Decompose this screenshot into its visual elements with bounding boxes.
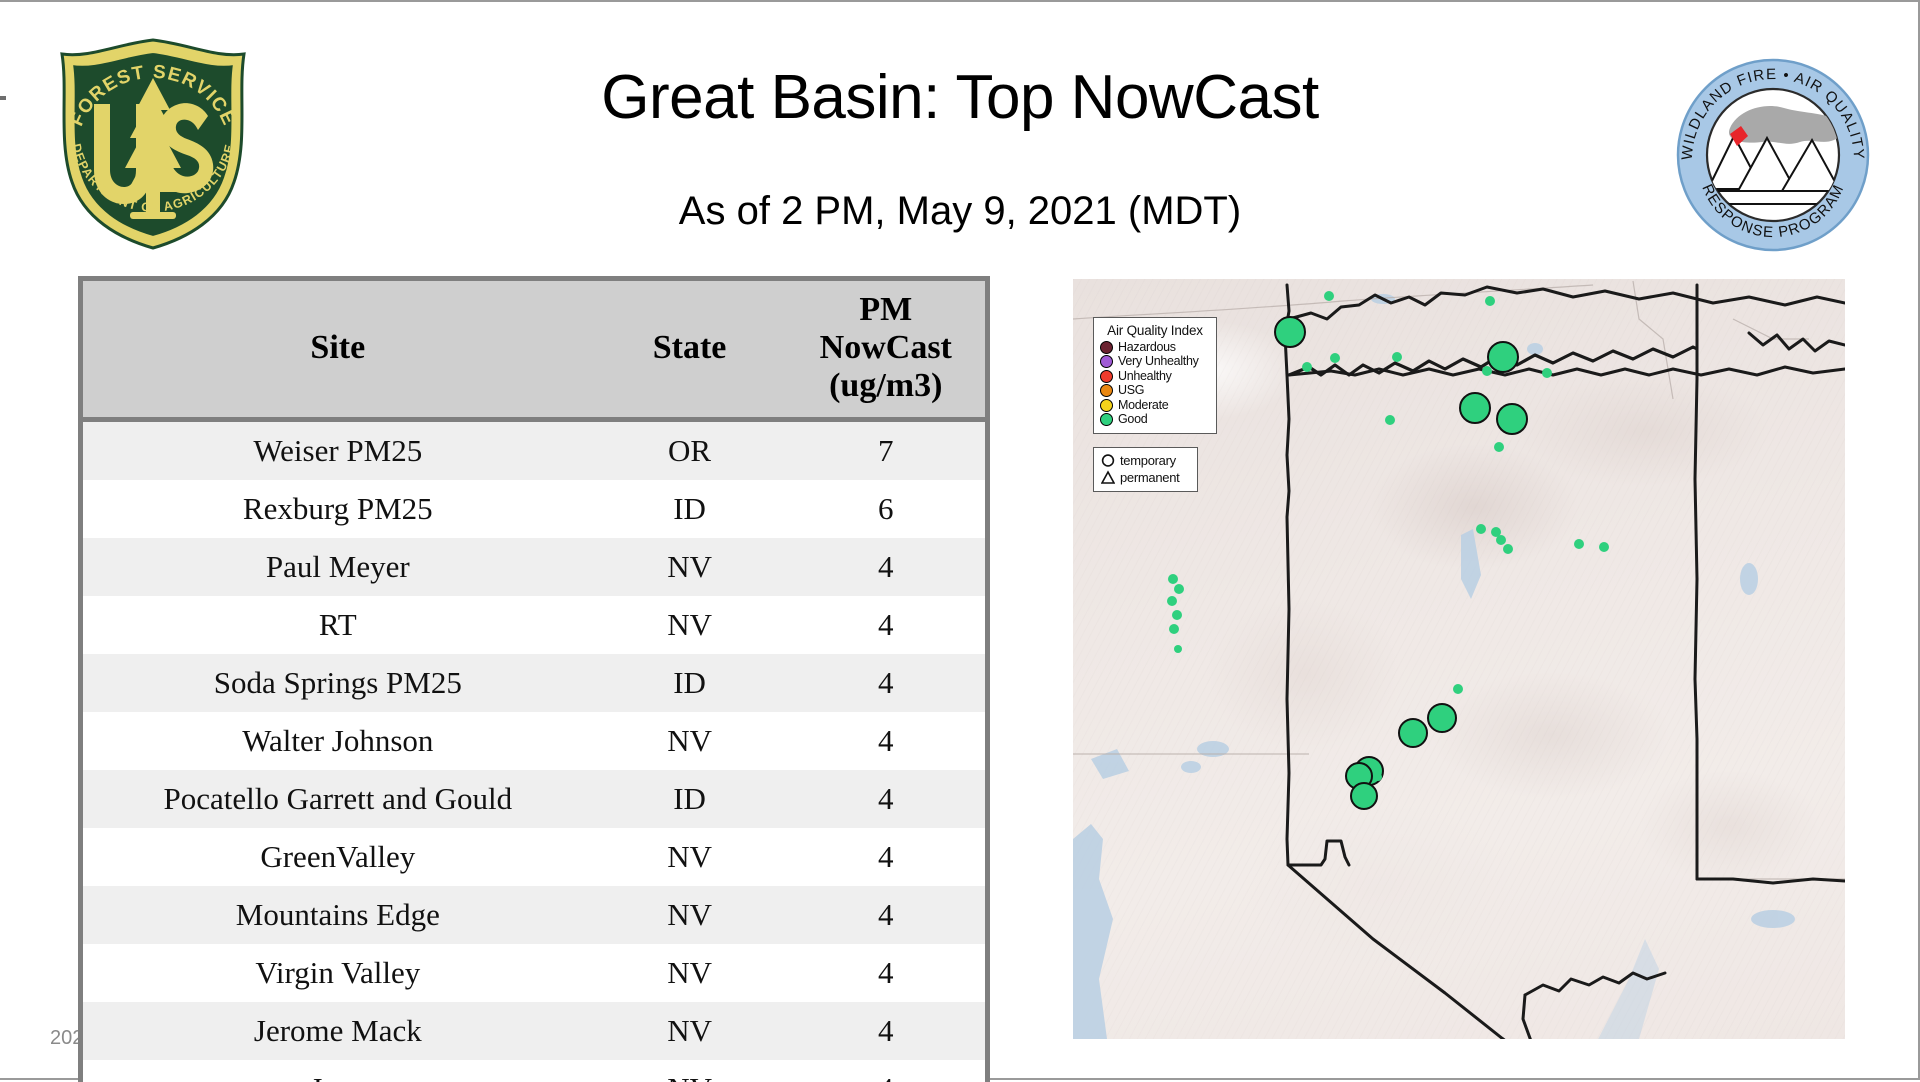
map-monitor-point[interactable] bbox=[1485, 296, 1495, 306]
map-monitor-point[interactable] bbox=[1169, 624, 1179, 634]
table-row: RTNV4 bbox=[83, 596, 985, 654]
pm-nowcast-line3: (ug/m3) bbox=[829, 367, 942, 404]
legend-item: Hazardous bbox=[1100, 340, 1210, 355]
value-cell: 4 bbox=[787, 596, 985, 654]
state-cell: ID bbox=[593, 480, 787, 538]
map-monitor-point[interactable] bbox=[1350, 782, 1378, 810]
legend-item: USG bbox=[1100, 384, 1210, 399]
map-legend-symbol-type: temporary permanent bbox=[1093, 447, 1198, 492]
legend-symbol-permanent-label: permanent bbox=[1120, 471, 1179, 485]
legend-color-swatch-icon bbox=[1100, 399, 1113, 412]
legend-item-label: USG bbox=[1118, 384, 1144, 397]
legend-item: Very Unhealthy bbox=[1100, 355, 1210, 370]
value-cell: 4 bbox=[787, 886, 985, 944]
table-row: Weiser PM25OR7 bbox=[83, 420, 985, 481]
legend-color-swatch-icon bbox=[1100, 384, 1113, 397]
map-monitor-point[interactable] bbox=[1487, 341, 1519, 373]
legend-color-swatch-icon bbox=[1100, 370, 1113, 383]
value-cell: 4 bbox=[787, 1002, 985, 1060]
pm-nowcast-line1: PM bbox=[859, 291, 912, 328]
value-cell: 7 bbox=[787, 420, 985, 481]
site-cell: Soda Springs PM25 bbox=[83, 654, 593, 712]
nowcast-table-container: Site State PM NowCast (ug/m3) Weiser PM2… bbox=[78, 276, 990, 1082]
page-title: Great Basin: Top NowCast bbox=[0, 62, 1920, 134]
legend-symbol-permanent: permanent bbox=[1101, 469, 1191, 486]
value-cell: 4 bbox=[787, 1060, 985, 1082]
map-monitor-point[interactable] bbox=[1427, 703, 1457, 733]
table-row: Rexburg PM25ID6 bbox=[83, 480, 985, 538]
map-monitor-point[interactable] bbox=[1503, 544, 1513, 554]
triangle-icon bbox=[1101, 470, 1115, 485]
map-monitor-point[interactable] bbox=[1330, 353, 1340, 363]
map-legend-air-quality-index: Air Quality Index HazardousVery Unhealth… bbox=[1093, 317, 1217, 434]
table-row: Jerome MackNV4 bbox=[83, 1002, 985, 1060]
legend-color-swatch-icon bbox=[1100, 413, 1113, 426]
site-cell: Pocatello Garrett and Gould bbox=[83, 770, 593, 828]
state-cell: ID bbox=[593, 770, 787, 828]
legend-symbol-temporary-label: temporary bbox=[1120, 454, 1176, 468]
state-cell: NV bbox=[593, 712, 787, 770]
table-row: Pocatello Garrett and GouldID4 bbox=[83, 770, 985, 828]
table-body: Weiser PM25OR7Rexburg PM25ID6Paul MeyerN… bbox=[83, 420, 985, 1082]
legend-items: HazardousVery UnhealthyUnhealthyUSGModer… bbox=[1100, 340, 1210, 427]
table-row: GreenValleyNV4 bbox=[83, 828, 985, 886]
legend-item: Moderate bbox=[1100, 398, 1210, 413]
table-row: JeanNV4 bbox=[83, 1060, 985, 1082]
site-cell: GreenValley bbox=[83, 828, 593, 886]
legend-item-label: Hazardous bbox=[1118, 341, 1176, 354]
site-cell: Walter Johnson bbox=[83, 712, 593, 770]
map-monitor-point[interactable] bbox=[1174, 584, 1184, 594]
column-header-site: Site bbox=[83, 281, 593, 420]
map-monitor-point[interactable] bbox=[1459, 392, 1491, 424]
map-monitor-point[interactable] bbox=[1385, 415, 1395, 425]
site-cell: Jerome Mack bbox=[83, 1002, 593, 1060]
column-header-state: State bbox=[593, 281, 787, 420]
map-monitor-point[interactable] bbox=[1274, 316, 1306, 348]
circle-icon bbox=[1101, 453, 1115, 468]
slide-canvas: 202 FOREST SERVICE DEP bbox=[0, 0, 1920, 1080]
table-header: Site State PM NowCast (ug/m3) bbox=[83, 281, 985, 420]
site-cell: Weiser PM25 bbox=[83, 420, 593, 481]
map-monitor-point[interactable] bbox=[1392, 352, 1402, 362]
site-cell: Mountains Edge bbox=[83, 886, 593, 944]
map-monitor-point[interactable] bbox=[1398, 718, 1428, 748]
map-monitor-point[interactable] bbox=[1174, 645, 1182, 653]
legend-item-label: Very Unhealthy bbox=[1118, 355, 1199, 368]
state-cell: NV bbox=[593, 1060, 787, 1082]
state-cell: NV bbox=[593, 886, 787, 944]
value-cell: 4 bbox=[787, 712, 985, 770]
legend-item: Good bbox=[1100, 413, 1210, 428]
table-row: Soda Springs PM25ID4 bbox=[83, 654, 985, 712]
state-cell: NV bbox=[593, 1002, 787, 1060]
table-row: Virgin ValleyNV4 bbox=[83, 944, 985, 1002]
state-cell: NV bbox=[593, 596, 787, 654]
map-monitor-point[interactable] bbox=[1574, 539, 1584, 549]
state-cell: NV bbox=[593, 828, 787, 886]
map-monitor-point[interactable] bbox=[1324, 291, 1334, 301]
great-basin-air-quality-map[interactable]: Air Quality Index HazardousVery Unhealth… bbox=[1073, 279, 1845, 1039]
map-monitor-point[interactable] bbox=[1542, 368, 1552, 378]
table-row: Paul MeyerNV4 bbox=[83, 538, 985, 596]
site-cell: Rexburg PM25 bbox=[83, 480, 593, 538]
map-monitor-point[interactable] bbox=[1453, 684, 1463, 694]
map-monitor-point[interactable] bbox=[1172, 610, 1182, 620]
site-cell: Jean bbox=[83, 1060, 593, 1082]
state-cell: NV bbox=[593, 538, 787, 596]
legend-item: Unhealthy bbox=[1100, 369, 1210, 384]
legend-color-swatch-icon bbox=[1100, 355, 1113, 368]
map-monitor-point[interactable] bbox=[1599, 542, 1609, 552]
site-cell: RT bbox=[83, 596, 593, 654]
legend-item-label: Moderate bbox=[1118, 399, 1168, 412]
legend-symbol-temporary: temporary bbox=[1101, 452, 1191, 469]
value-cell: 4 bbox=[787, 770, 985, 828]
value-cell: 6 bbox=[787, 480, 985, 538]
state-cell: OR bbox=[593, 420, 787, 481]
page-subtitle: As of 2 PM, May 9, 2021 (MDT) bbox=[0, 187, 1920, 235]
site-cell: Paul Meyer bbox=[83, 538, 593, 596]
map-monitor-point[interactable] bbox=[1496, 535, 1506, 545]
value-cell: 4 bbox=[787, 828, 985, 886]
legend-item-label: Unhealthy bbox=[1118, 370, 1172, 383]
site-cell: Virgin Valley bbox=[83, 944, 593, 1002]
table-row: Mountains EdgeNV4 bbox=[83, 886, 985, 944]
map-monitor-point[interactable] bbox=[1482, 366, 1492, 376]
column-header-pm-nowcast: PM NowCast (ug/m3) bbox=[787, 281, 985, 420]
map-monitor-point[interactable] bbox=[1494, 442, 1504, 452]
map-monitor-point[interactable] bbox=[1167, 596, 1177, 606]
legend-item-label: Good bbox=[1118, 413, 1147, 426]
table-header-row: Site State PM NowCast (ug/m3) bbox=[83, 281, 985, 420]
map-monitor-point[interactable] bbox=[1476, 524, 1486, 534]
map-monitor-point[interactable] bbox=[1374, 773, 1382, 781]
state-cell: NV bbox=[593, 944, 787, 1002]
legend-title: Air Quality Index bbox=[1100, 323, 1210, 338]
nowcast-table: Site State PM NowCast (ug/m3) Weiser PM2… bbox=[83, 281, 985, 1082]
value-cell: 4 bbox=[787, 538, 985, 596]
value-cell: 4 bbox=[787, 654, 985, 712]
pm-nowcast-line2: NowCast bbox=[820, 329, 952, 366]
value-cell: 4 bbox=[787, 944, 985, 1002]
map-monitor-point[interactable] bbox=[1168, 574, 1178, 584]
map-monitor-point[interactable] bbox=[1496, 403, 1528, 435]
map-monitor-point[interactable] bbox=[1302, 362, 1312, 372]
table-row: Walter JohnsonNV4 bbox=[83, 712, 985, 770]
legend-color-swatch-icon bbox=[1100, 341, 1113, 354]
state-cell: ID bbox=[593, 654, 787, 712]
